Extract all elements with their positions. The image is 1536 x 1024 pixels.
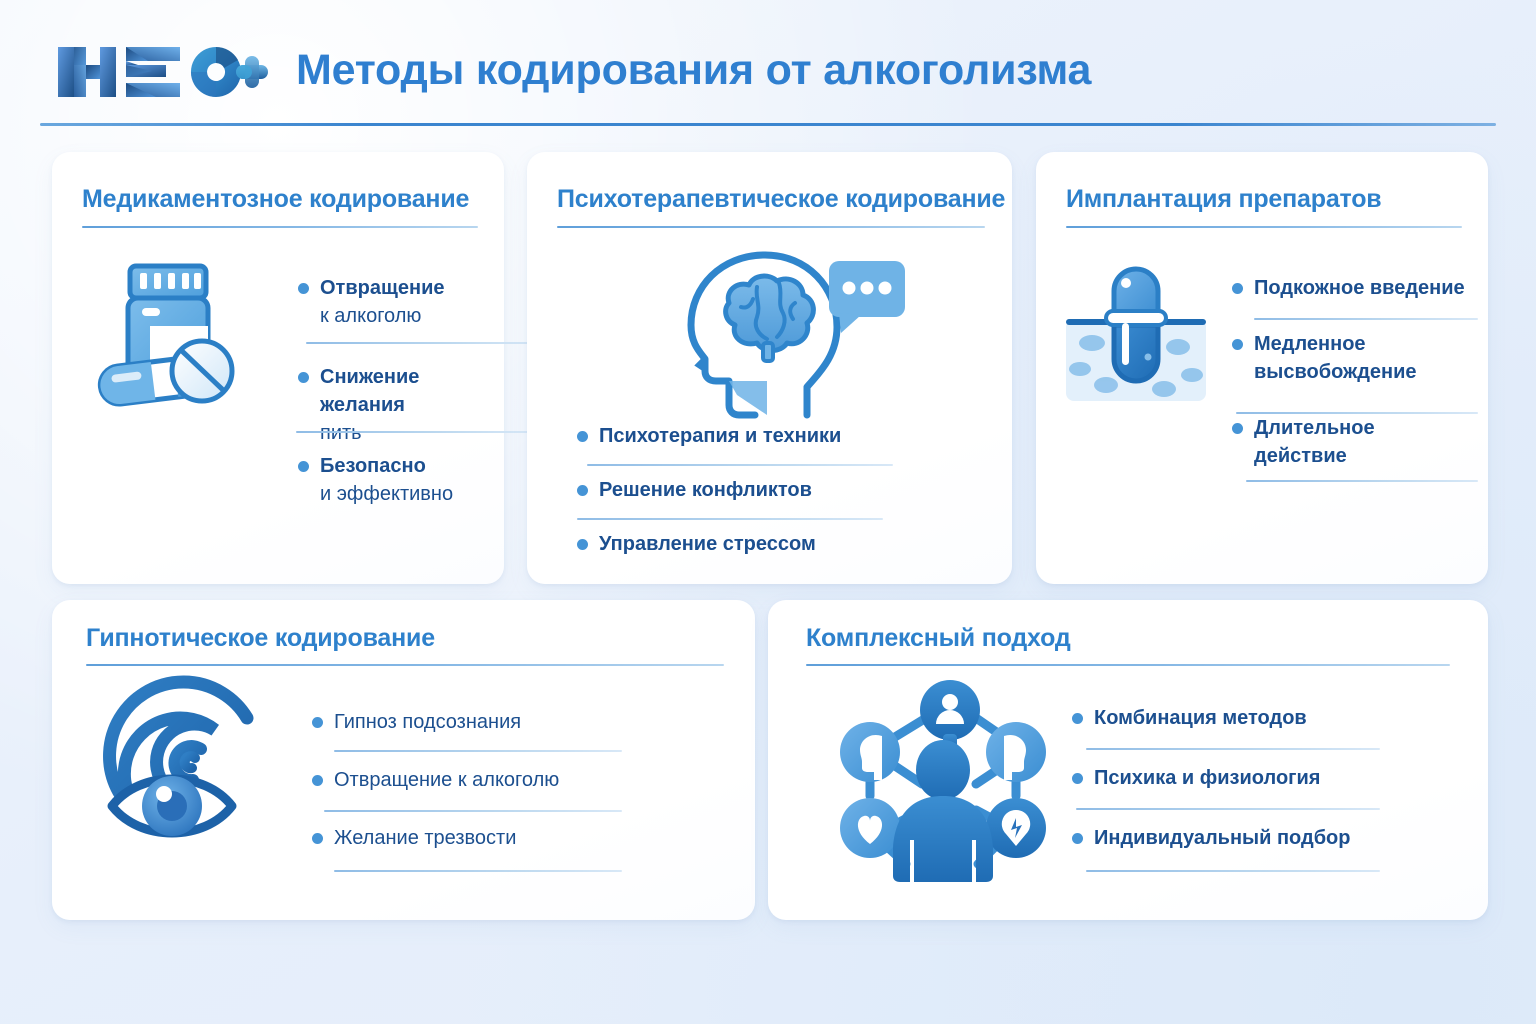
bullet-dot-icon [1072,833,1083,844]
bullet-dot-icon [577,539,588,550]
bullet-strong: Решение конфликтов [599,479,812,501]
bullet-dot-icon [298,372,309,383]
bullet-strong: Желание трезвости [334,827,516,849]
list-item[interactable]: Управление стрессом [577,530,957,564]
bullet-list-hypnotic: Гипноз подсознания Отвращение к алкоголю… [312,708,642,856]
bullet-soft: и эффективно [320,480,478,508]
list-item[interactable]: Подкожное введение [1232,274,1472,308]
pill-bottle-icon [82,252,252,412]
list-divider [1086,748,1380,750]
bullet-dot-icon [1232,283,1243,294]
card-psychotherapy-coding[interactable]: Психотерапевтическое кодирование [527,152,1012,584]
bullet-dot-icon [298,461,309,472]
list-divider [577,518,883,520]
list-divider [324,810,622,812]
bullet-list-medication: Отвращение к алкоголю Снижение желания п… [298,274,478,514]
card-title-complex: Комплексный подход [806,624,1071,653]
list-item[interactable]: Психотерапия и техники [577,422,957,456]
implant-capsule-icon [1056,247,1216,417]
bullet-strong: Отвращение к алкоголю [334,769,559,791]
page-title: Методы кодирования от алкоголизма [296,46,1091,95]
bullet-dot-icon [312,717,323,728]
list-item[interactable]: Психика и физиология [1072,764,1412,798]
list-divider [1086,870,1380,872]
card-complex-approach[interactable]: Комплексный подход [768,600,1488,920]
card-title-divider [82,226,478,228]
list-divider [1076,808,1380,810]
card-title-medication: Медикаментозное кодирование [82,185,469,214]
list-item[interactable]: Отвращение к алкоголю [312,766,642,798]
header-divider [40,123,1496,126]
card-title-divider [557,226,985,228]
list-item[interactable]: Длительное действие [1232,414,1472,448]
bullet-strong: Снижение желания [320,366,419,416]
list-item[interactable]: Желание трезвости [312,824,642,856]
logo-letter-h [58,47,116,97]
bullet-strong: Безопасно [320,455,426,477]
card-title-divider [86,664,724,666]
person-network-icon [830,678,1040,878]
list-divider [334,750,622,752]
speech-bubble [829,261,905,333]
hypnosis-eye-spiral-icon [100,682,280,842]
card-title-divider [806,664,1450,666]
bullet-dot-icon [577,485,588,496]
bullet-strong: Медленное [1254,333,1366,355]
bullet-strong: Длительное действие [1254,417,1375,467]
list-divider [1254,318,1478,320]
list-item[interactable]: Комбинация методов [1072,704,1412,738]
logo-letter-o [191,47,241,97]
list-item[interactable]: Снижение желания пить [298,363,478,425]
bullet-strong: Управление стрессом [599,533,816,555]
list-item[interactable]: Гипноз подсознания [312,708,642,740]
bullet-soft: пить [320,419,478,447]
bullet-dot-icon [298,283,309,294]
bullet-strong: Отвращение [320,277,444,299]
list-item[interactable]: Отвращение к алкоголю [298,274,478,336]
card-hypnotic-coding[interactable]: Гипнотическое кодирование [52,600,755,920]
bullet-dot-icon [312,833,323,844]
list-item[interactable]: Индивидуальный подбор [1072,824,1412,858]
logo-letter-e [126,47,180,97]
page-header: Методы кодирования от алкоголизма [0,0,1536,132]
bullet-list-implantation: Подкожное введение Медленное высвобожден… [1232,274,1472,448]
neo-plus-logo [56,41,270,103]
bullet-dot-icon [1232,339,1243,350]
list-divider [334,870,622,872]
bullet-dot-icon [1232,423,1243,434]
bullet-dot-icon [1072,713,1083,724]
card-medication-coding[interactable]: Медикаментозное кодирование [52,152,504,584]
list-item[interactable]: Безопасно и эффективно [298,452,478,514]
bullet-strong: Комбинация методов [1094,707,1307,729]
list-divider [587,464,893,466]
bullet-soft: к алкоголю [320,302,478,330]
bullet-list-complex: Комбинация методов Психика и физиология … [1072,704,1412,858]
card-title-implantation: Имплантация препаратов [1066,185,1381,214]
list-item[interactable]: Решение конфликтов [577,476,957,510]
card-implantation[interactable]: Имплантация препаратов [1036,152,1488,584]
bullet-soft: высвобождение [1254,358,1472,386]
bullet-strong: Психотерапия и техники [599,425,841,447]
list-item[interactable]: Медленное высвобождение [1232,330,1472,392]
list-divider [296,431,532,433]
bullet-strong: Гипноз подсознания [334,711,521,733]
bullet-list-psychotherapy: Психотерапия и техники Решение конфликто… [577,422,957,564]
bullet-strong: Психика и физиология [1094,767,1320,789]
card-title-hypnotic: Гипнотическое кодирование [86,624,435,653]
list-divider [306,342,542,344]
bullet-strong: Индивидуальный подбор [1094,827,1350,849]
card-title-divider [1066,226,1462,228]
bullet-dot-icon [312,775,323,786]
logo-plus-icon [236,56,268,88]
list-divider [1246,480,1478,482]
bullet-strong: Подкожное введение [1254,277,1465,299]
card-title-psychotherapy: Психотерапевтическое кодирование [557,185,1005,214]
bullet-dot-icon [577,431,588,442]
head-brain-speech-icon [657,247,887,417]
bullet-dot-icon [1072,773,1083,784]
